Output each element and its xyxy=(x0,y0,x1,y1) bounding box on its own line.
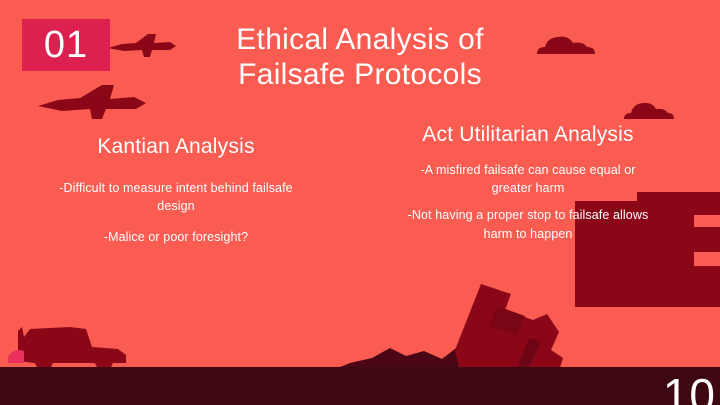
ground-band xyxy=(0,367,720,405)
building-right-notch-upper-icon xyxy=(694,215,720,227)
military-jeep-icon xyxy=(8,313,138,375)
column-body: -Difficult to measure intent behind fail… xyxy=(16,179,336,246)
slide-canvas: 01 Ethical Analysis of Failsafe Protocol… xyxy=(0,0,720,405)
slide-number-badge: 01 xyxy=(22,19,110,71)
column-act-utilitarian-analysis: Act Utilitarian Analysis -A misfired fai… xyxy=(378,122,678,243)
bullet-item: -Not having a proper stop to failsafe al… xyxy=(402,206,654,242)
column-kantian-analysis: Kantian Analysis -Difficult to measure i… xyxy=(16,134,336,247)
building-right-notch-lower-icon xyxy=(694,252,720,266)
bullet-item: -Malice or poor foresight? xyxy=(56,228,296,246)
slide-title-line-1: Ethical Analysis of xyxy=(160,22,560,57)
column-heading: Act Utilitarian Analysis xyxy=(378,122,678,147)
column-body: -A misfired failsafe can cause equal or … xyxy=(378,161,678,243)
bullet-item: -A misfired failsafe can cause equal or … xyxy=(402,161,654,197)
slide-title-line-2: Failsafe Protocols xyxy=(160,57,560,92)
fighter-jet-icon xyxy=(38,82,146,122)
page-number: 10 xyxy=(663,372,716,405)
cloud-icon xyxy=(622,100,676,120)
slide-title: Ethical Analysis of Failsafe Protocols xyxy=(160,22,560,93)
slide-number-badge-text: 01 xyxy=(44,26,88,64)
column-heading: Kantian Analysis xyxy=(16,134,336,159)
bullet-item: -Difficult to measure intent behind fail… xyxy=(56,179,296,215)
